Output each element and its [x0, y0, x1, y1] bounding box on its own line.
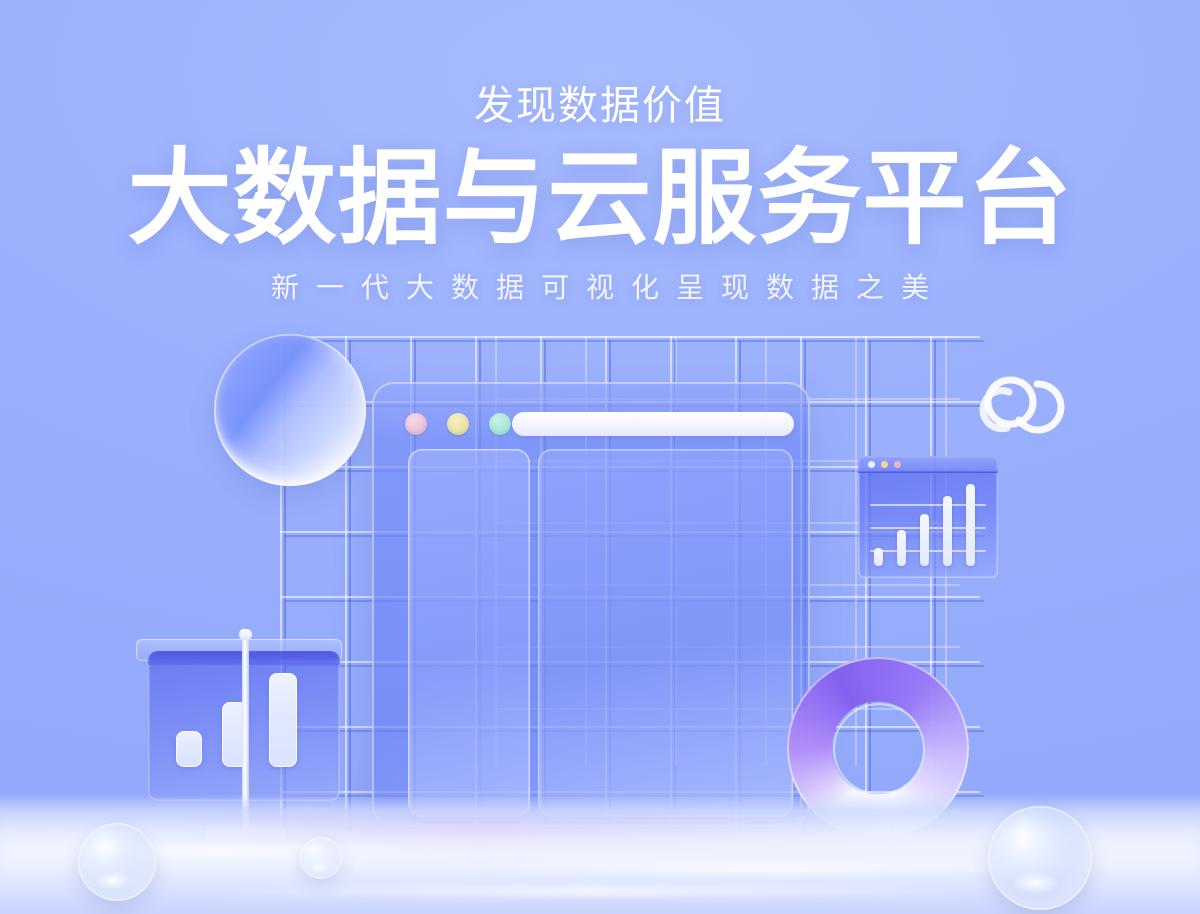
traffic-light-maximize[interactable] [489, 413, 511, 435]
monitor-stand-cap [239, 629, 252, 640]
traffic-light-close[interactable] [405, 413, 427, 435]
dashboard-dot-maximize[interactable] [894, 461, 901, 468]
dashboard-titlebar [858, 456, 998, 473]
dashboard-dot-close[interactable] [868, 461, 875, 468]
donut-chart-inner-rim [833, 703, 925, 795]
dashboard-bar-1 [874, 548, 883, 566]
dashboard-bar-4 [943, 496, 952, 566]
dashboard-bar-5 [966, 484, 975, 566]
browser-content-panel[interactable] [538, 449, 793, 817]
hero-banner: 发现数据价值 大数据与云服务平台 新一代大数据可视化呈现数据之美 [0, 0, 1200, 914]
sphere-highlight-center [309, 863, 328, 873]
monitor-bar-3 [269, 673, 297, 767]
hero-eyebrow: 发现数据价值 [0, 84, 1200, 128]
floor-streak-3 [140, 886, 1040, 896]
browser-sidebar-panel[interactable] [408, 449, 530, 817]
url-bar[interactable] [512, 412, 794, 436]
dashboard-dot-minimize[interactable] [881, 461, 888, 468]
sphere-highlight-left [95, 871, 131, 890]
cloud-icon [975, 362, 1067, 436]
glass-sphere-small-center [300, 837, 342, 879]
glass-disc-edge [214, 334, 366, 486]
hero-subtitle: 新一代大数据可视化呈现数据之美 [0, 266, 1200, 306]
monitor-bar-1 [176, 731, 202, 767]
page-title: 大数据与云服务平台 [0, 146, 1200, 252]
glass-sphere-right [988, 806, 1092, 910]
traffic-light-minimize[interactable] [447, 413, 469, 435]
dashboard-bar-3 [920, 514, 929, 566]
hero-text-block: 发现数据价值 大数据与云服务平台 新一代大数据可视化呈现数据之美 [0, 84, 1200, 306]
sphere-highlight-right [1011, 871, 1059, 896]
glass-sphere-left [78, 823, 156, 901]
dashboard-bar-2 [897, 530, 906, 566]
